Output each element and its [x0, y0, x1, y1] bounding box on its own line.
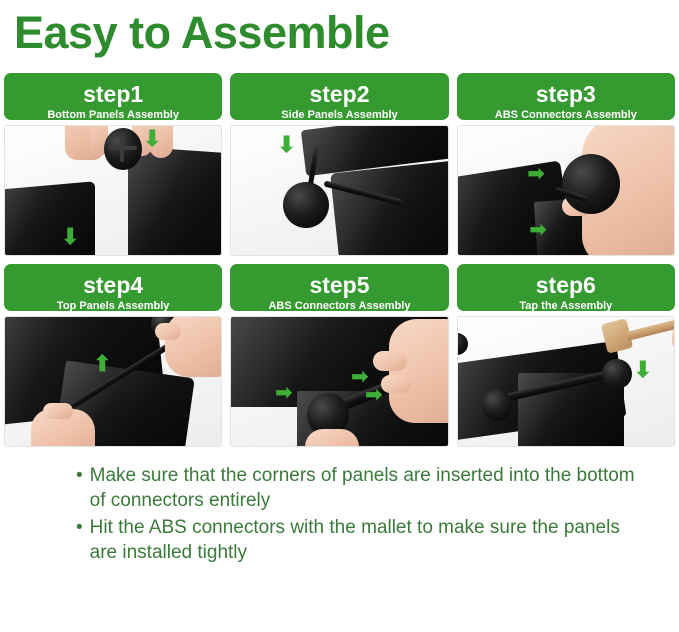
step-number-6: step6 [461, 273, 671, 297]
step-header-4: step4 Top Panels Assembly [4, 264, 222, 311]
step-caption-5: ABS Connectors Assembly [234, 300, 444, 313]
step-photo-5: ➡ ➡ ➡ [230, 316, 448, 447]
arrow-down-icon: ⬇ [277, 134, 295, 156]
step-card-4: step4 Top Panels Assembly ⬇ [4, 264, 222, 447]
arrow-right-icon: ➡ [528, 164, 545, 184]
step-photo-1: ⬇ ⬇ [4, 125, 222, 256]
step-number-4: step4 [8, 273, 218, 297]
arrow-right-icon: ➡ [275, 383, 292, 403]
step-caption-2: Side Panels Assembly [234, 109, 444, 122]
note-item: • Hit the ABS connectors with the mallet… [76, 515, 639, 566]
note-bullet-icon: • [76, 463, 83, 488]
step-caption-1: Bottom Panels Assembly [8, 109, 218, 122]
step-header-6: step6 Tap the Assembly [457, 264, 675, 311]
arrow-down-icon: ⬇ [61, 226, 79, 248]
step-header-3: step3 ABS Connectors Assembly [457, 73, 675, 120]
note-item: • Make sure that the corners of panels a… [76, 463, 639, 514]
step-header-5: step5 ABS Connectors Assembly [230, 264, 448, 311]
arrow-right-icon: ➡ [530, 220, 547, 240]
step-card-3: step3 ABS Connectors Assembly ➡ ➡ [457, 73, 675, 256]
step-number-5: step5 [234, 273, 444, 297]
arrow-down-icon: ⬇ [143, 128, 161, 150]
note-text: Make sure that the corners of panels are… [90, 463, 639, 514]
page-title: Easy to Assemble [0, 0, 679, 55]
step-caption-3: ABS Connectors Assembly [461, 109, 671, 122]
notes-list: • Make sure that the corners of panels a… [0, 463, 679, 565]
step-number-1: step1 [8, 82, 218, 106]
step-card-6: step6 Tap the Assembly ⬇ [457, 264, 675, 447]
step-card-1: step1 Bottom Panels Assembly ⬇ ⬇ [4, 73, 222, 256]
arrow-up-icon: ⬇ [93, 351, 111, 373]
step-number-2: step2 [234, 82, 444, 106]
step-card-5: step5 ABS Connectors Assembly ➡ ➡ ➡ [230, 264, 448, 447]
step-photo-6: ⬇ [457, 316, 675, 447]
step-header-1: step1 Bottom Panels Assembly [4, 73, 222, 120]
step-photo-4: ⬇ [4, 316, 222, 447]
assembly-instructions-page: Easy to Assemble step1 Bottom Panels Ass… [0, 0, 679, 632]
arrow-right-icon: ➡ [365, 385, 382, 405]
arrow-down-icon: ⬇ [634, 359, 652, 381]
steps-grid: step1 Bottom Panels Assembly ⬇ ⬇ [4, 73, 675, 447]
step-caption-4: Top Panels Assembly [8, 300, 218, 313]
step-photo-2: ⬇ [230, 125, 448, 256]
step-number-3: step3 [461, 82, 671, 106]
step-photo-3: ➡ ➡ [457, 125, 675, 256]
step-header-2: step2 Side Panels Assembly [230, 73, 448, 120]
note-text: Hit the ABS connectors with the mallet t… [90, 515, 639, 566]
step-card-2: step2 Side Panels Assembly ⬇ [230, 73, 448, 256]
step-caption-6: Tap the Assembly [461, 300, 671, 313]
note-bullet-icon: • [76, 515, 83, 540]
